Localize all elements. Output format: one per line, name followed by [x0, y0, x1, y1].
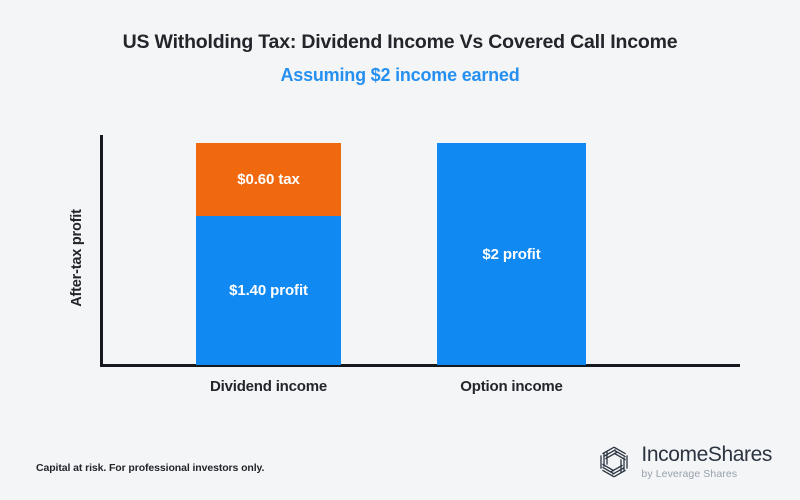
bar-segment-profit: $2 profit: [437, 143, 586, 365]
bar-dividend-income: $0.60 tax $1.40 profit: [196, 143, 341, 365]
bar-segment-profit-label: $2 profit: [482, 246, 540, 263]
bar-segment-tax-label: $0.60 tax: [237, 171, 299, 188]
y-axis-label: After-tax profit: [69, 178, 85, 338]
pinwheel-hexagon-icon: [596, 443, 632, 481]
disclaimer-text: Capital at risk. For professional invest…: [36, 462, 264, 474]
bar-segment-tax: $0.60 tax: [196, 143, 341, 216]
brand-logo: IncomeShares by Leverage Shares: [596, 443, 772, 481]
bar-segment-profit-label: $1.40 profit: [229, 282, 308, 299]
bar-segment-profit: $1.40 profit: [196, 216, 341, 365]
logo-text-block: IncomeShares by Leverage Shares: [641, 444, 772, 480]
x-axis-category-label-dividend-income: Dividend income: [176, 378, 361, 395]
plot-area: After-tax profit $0.60 tax $1.40 profit …: [0, 0, 800, 500]
y-axis-line: [100, 135, 103, 367]
logo-tagline: by Leverage Shares: [641, 469, 772, 480]
chart-canvas: US Witholding Tax: Dividend Income Vs Co…: [0, 0, 800, 500]
logo-wordmark: IncomeShares: [641, 444, 772, 465]
x-axis-category-label-option-income: Option income: [419, 378, 604, 395]
bar-option-income: $2 profit: [437, 143, 586, 365]
